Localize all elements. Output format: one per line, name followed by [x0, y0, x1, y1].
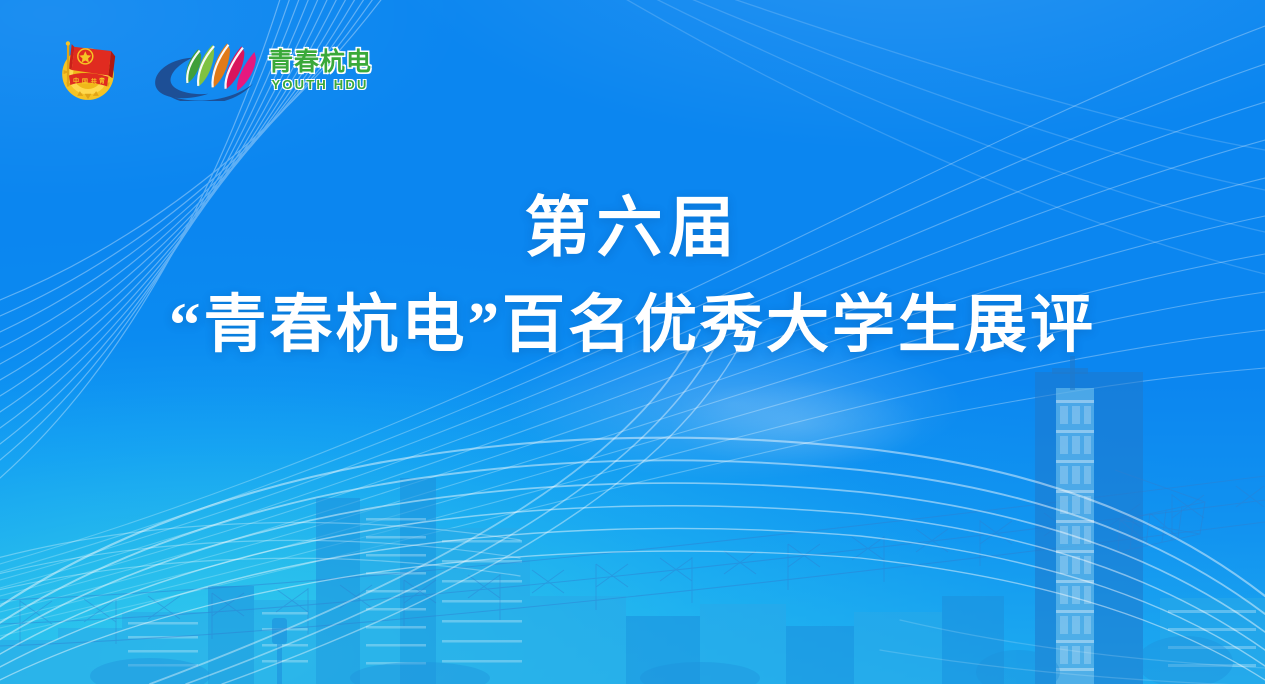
youth-hdu-english-text: YOUTH HDU — [271, 78, 368, 91]
logo-bar: 中国共青 — [54, 36, 372, 104]
poster-canvas: 中国共青 — [0, 0, 1265, 684]
poster-title: 第六届 “青春杭电”百名优秀大学生展评 — [0, 196, 1265, 357]
youth-hdu-wordmark: 青春杭电 YOUTH HDU — [268, 50, 372, 91]
svg-text:青: 青 — [99, 77, 105, 85]
traffic-light-icon — [272, 618, 287, 684]
youth-hdu-chinese-text: 青春杭电 — [268, 50, 372, 75]
youth-hdu-logo: 青春杭电 YOUTH HDU — [146, 39, 372, 101]
title-line-2: “青春杭电”百名优秀大学生展评 — [0, 294, 1265, 357]
svg-text:共: 共 — [91, 78, 97, 86]
title-line-1: 第六届 — [0, 196, 1265, 262]
youth-hdu-petal-mark-icon — [146, 39, 262, 101]
svg-text:国: 国 — [82, 78, 88, 86]
communist-youth-league-emblem-icon: 中国共青 — [54, 36, 122, 104]
svg-text:中: 中 — [73, 77, 79, 85]
campus-tower — [1035, 356, 1205, 684]
truss-bridge — [0, 476, 1265, 646]
